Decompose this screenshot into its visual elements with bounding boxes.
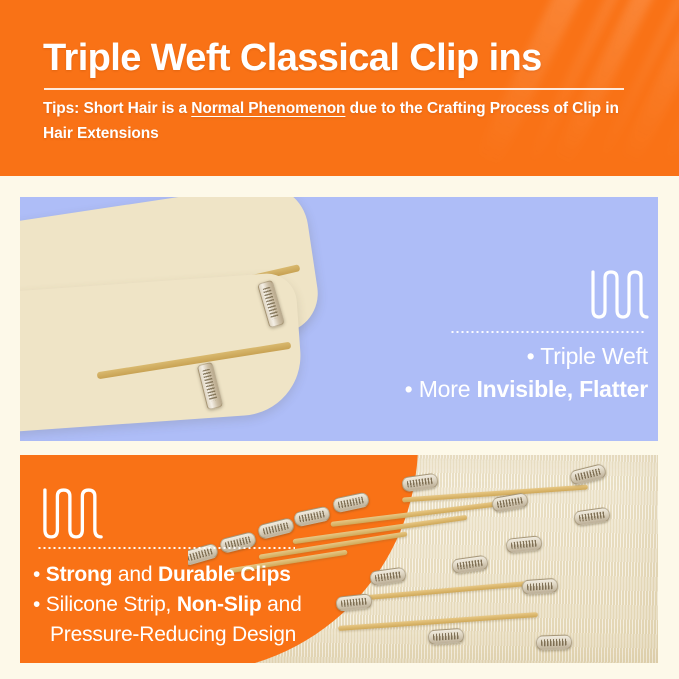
list-item: Pressure-Reducing Design bbox=[33, 620, 302, 650]
header-banner: Triple Weft Classical Clip ins Tips: Sho… bbox=[0, 0, 679, 176]
list-item: • Triple Weft bbox=[405, 340, 648, 373]
list-item-emphasis: Durable Clips bbox=[158, 563, 291, 586]
list-item-text: and bbox=[262, 593, 302, 616]
list-item: • Silicone Strip, Non-Slip and bbox=[33, 590, 302, 620]
bullet-glyph: • bbox=[405, 376, 413, 402]
tip-highlight: Normal Phenomenon bbox=[191, 100, 345, 117]
hair-clip bbox=[522, 578, 559, 595]
product-infographic: Triple Weft Classical Clip ins Tips: Sho… bbox=[0, 0, 679, 679]
weft-dotted-divider bbox=[450, 331, 646, 333]
bullet-glyph: • bbox=[527, 343, 535, 369]
header-divider bbox=[44, 88, 624, 90]
list-item-emphasis: Invisible, Flatter bbox=[476, 376, 648, 402]
list-item: • More Invisible, Flatter bbox=[405, 373, 648, 406]
list-item-text: Silicone Strip, bbox=[40, 593, 177, 616]
triple-weft-photo bbox=[20, 197, 386, 441]
hair-clip bbox=[428, 628, 465, 645]
weft-feature-list: • Triple Weft • More Invisible, Flatter bbox=[405, 340, 648, 406]
clips-feature-list: • Strong and Durable Clips • Silicone St… bbox=[33, 560, 302, 650]
weft-wave-icon bbox=[40, 488, 106, 545]
list-item-text: Triple Weft bbox=[535, 343, 649, 369]
header-tip-text: Tips: Short Hair is a Normal Phenomenon … bbox=[43, 96, 637, 146]
weft-wave-icon bbox=[589, 270, 651, 325]
page-title: Triple Weft Classical Clip ins bbox=[43, 36, 542, 80]
list-item-text: Pressure-Reducing Design bbox=[50, 623, 296, 646]
tip-prefix: Tips: Short Hair is a bbox=[43, 100, 191, 117]
clips-dotted-divider bbox=[37, 547, 295, 549]
list-item-text: and bbox=[112, 563, 158, 586]
list-item: • Strong and Durable Clips bbox=[33, 560, 302, 590]
list-item-emphasis: Strong bbox=[46, 563, 112, 586]
list-item-text: More bbox=[413, 376, 477, 402]
list-item-emphasis: Non-Slip bbox=[177, 593, 262, 616]
hair-clip bbox=[536, 634, 573, 650]
